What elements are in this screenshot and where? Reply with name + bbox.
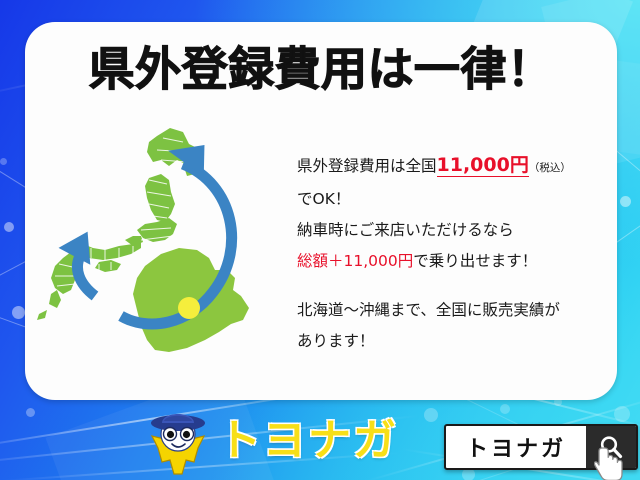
network-node xyxy=(4,222,14,232)
search-input[interactable]: トヨナガ xyxy=(446,426,586,468)
network-node xyxy=(614,406,630,422)
japan-map-illustration xyxy=(37,118,282,388)
network-node xyxy=(26,408,35,417)
hand-pointer-icon xyxy=(594,446,628,480)
location-marker xyxy=(178,297,200,319)
tax-note: （税込） xyxy=(529,162,571,174)
copy-line-5: 北海道〜沖縄まで、全国に販売実績が xyxy=(297,295,607,326)
price-nationwide: 11,000円 xyxy=(437,154,529,177)
copy-line-3: 納車時にご来店いただけるなら xyxy=(297,215,607,246)
copy-line-6: あります！ xyxy=(297,326,607,357)
copy-line-4: 総額＋11,000円で乗り出せます！ xyxy=(297,246,607,277)
copy-spacer xyxy=(297,277,607,295)
network-node xyxy=(424,408,438,422)
network-node xyxy=(500,404,510,414)
brand-logo-text: トヨナガ xyxy=(218,414,398,468)
copy-line-1: 県外登録費用は全国11,000円（税込） xyxy=(297,150,607,184)
network-node xyxy=(12,306,25,319)
network-node xyxy=(0,158,7,165)
copy-line-2: でOK！ xyxy=(297,184,607,215)
price-total-addon: 総額＋11,000円 xyxy=(297,252,413,270)
body-copy: 県外登録費用は全国11,000円（税込） でOK！ 納車時にご来店いただけるなら… xyxy=(297,150,607,357)
network-node xyxy=(620,196,631,207)
content-card: 県外登録費用は一律！ xyxy=(25,22,617,400)
mascot-character-icon xyxy=(142,406,214,478)
copy-line-4-suffix: で乗り出せます！ xyxy=(413,252,537,270)
copy-line-1-prefix: 県外登録費用は全国 xyxy=(297,157,437,175)
page-title: 県外登録費用は一律！ xyxy=(25,46,617,92)
banner-root: 県外登録費用は一律！ xyxy=(0,0,640,480)
